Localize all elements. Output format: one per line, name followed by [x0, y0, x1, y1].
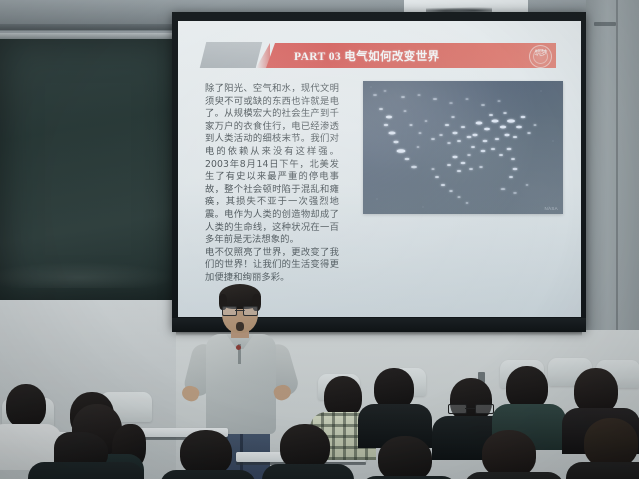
slide-decor-parallelogram [200, 42, 262, 68]
lecturer-goatee [236, 322, 244, 331]
slide-body-text: 除了阳光、空气和水，现代文明须臾不可或缺的东西也许就是电了。从规模宏大的社会生产… [205, 83, 339, 285]
person-torso [566, 462, 639, 479]
lecturer-glasses-icon [222, 306, 258, 314]
slide-title: PART 03 电气如何改变世界 [294, 48, 440, 64]
lecturer-polo-shirt [206, 334, 276, 434]
person-torso [464, 472, 564, 479]
chalk-residue [0, 262, 176, 288]
slide-paragraph-1: 除了阳光、空气和水，现代文明须臾不可或缺的东西也许就是电了。从规模宏大的社会生产… [205, 83, 339, 247]
night-lights-vector [363, 81, 563, 214]
north-america-night-lights-image: NASA [363, 81, 563, 214]
person-torso [160, 470, 256, 479]
glasses-right-lens [243, 306, 258, 316]
person-head [482, 430, 536, 478]
lecture-hall-photo: PART 03 电气如何改变世界 筑梦 除了阳光、空气和水，现代文明须臾不可或缺… [0, 0, 639, 479]
person-head [378, 436, 432, 479]
wall-fixture [594, 22, 616, 26]
seal-glyph: 筑梦 [530, 50, 551, 57]
glasses-bridge [465, 408, 475, 409]
chalkboard-top-frame [0, 33, 176, 39]
wall-seam [616, 0, 618, 360]
glasses-left-lens [222, 306, 237, 316]
glasses-left-lens [448, 404, 467, 414]
image-credit: NASA [545, 206, 558, 211]
presentation-slide: PART 03 电气如何改变世界 筑梦 除了阳光、空气和水，现代文明须臾不可或缺… [178, 21, 581, 317]
person-torso [262, 464, 354, 479]
glasses-right-lens [475, 404, 494, 414]
person-torso [28, 462, 144, 479]
chalkboard [0, 38, 176, 300]
slide-paragraph-2: 电不仅照亮了世界，更改变了我们的世界！让我们的生活变得更加便捷和绚丽多彩。 [205, 247, 339, 285]
lecturer-collar-button [236, 345, 241, 350]
slide-title-banner: PART 03 电气如何改变世界 筑梦 [266, 43, 556, 68]
person-head [6, 384, 46, 428]
person-head [584, 418, 638, 468]
brand-seal-icon: 筑梦 [529, 45, 552, 68]
audience-glasses-icon [448, 404, 494, 412]
right-wall [586, 0, 639, 360]
